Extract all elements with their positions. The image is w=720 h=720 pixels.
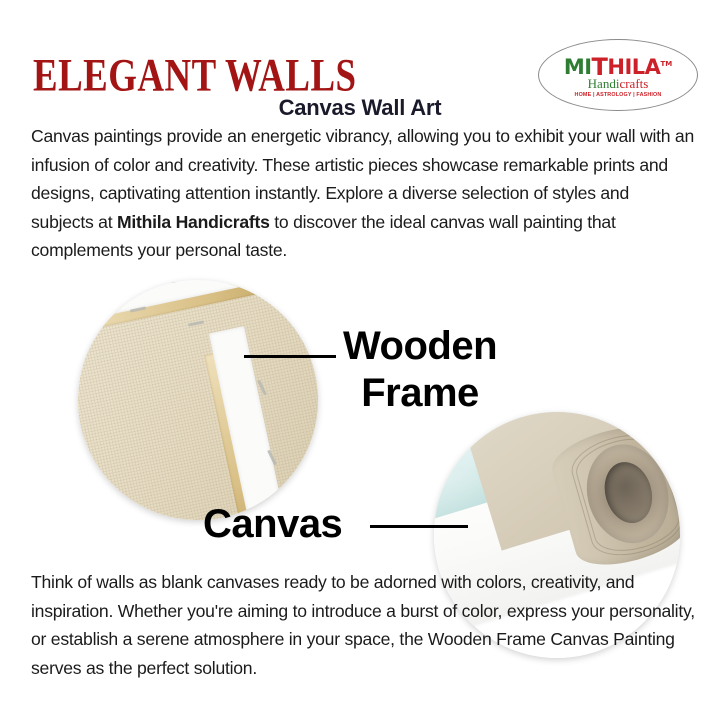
brand-mention: Mithila Handicrafts bbox=[117, 212, 270, 232]
wooden-frame-photo bbox=[78, 280, 318, 520]
logo-subwordmark-handi: Handi bbox=[588, 76, 620, 91]
infographic-page: ELEGANT WALLS MITHILATM Handicrafts HOME… bbox=[0, 0, 720, 720]
branch-icon bbox=[434, 458, 454, 463]
flower-icon bbox=[434, 477, 446, 516]
logo-subwordmark-crafts: crafts bbox=[619, 76, 648, 91]
logo-wordmark: MITHILATM bbox=[538, 54, 698, 78]
wooden-frame-label-line1: Wooden bbox=[336, 323, 504, 370]
canvas-leader-line bbox=[370, 525, 468, 528]
canvas-label: Canvas bbox=[203, 501, 342, 547]
wooden-frame-label: Wooden Frame bbox=[336, 323, 504, 417]
flower-bud-icon bbox=[434, 447, 436, 461]
trademark-icon: TM bbox=[660, 60, 672, 68]
page-subtitle: Canvas Wall Art bbox=[0, 95, 720, 121]
closing-paragraph: Think of walls as blank canvases ready t… bbox=[31, 568, 699, 682]
intro-paragraph: Canvas paintings provide an energetic vi… bbox=[31, 122, 695, 265]
wooden-frame-leader-line bbox=[244, 355, 336, 358]
logo-subwordmark: Handicrafts bbox=[538, 77, 698, 90]
branch-icon bbox=[434, 457, 447, 482]
wooden-frame-photo-inner bbox=[78, 280, 318, 520]
wooden-frame-label-line2: Frame bbox=[336, 370, 504, 417]
